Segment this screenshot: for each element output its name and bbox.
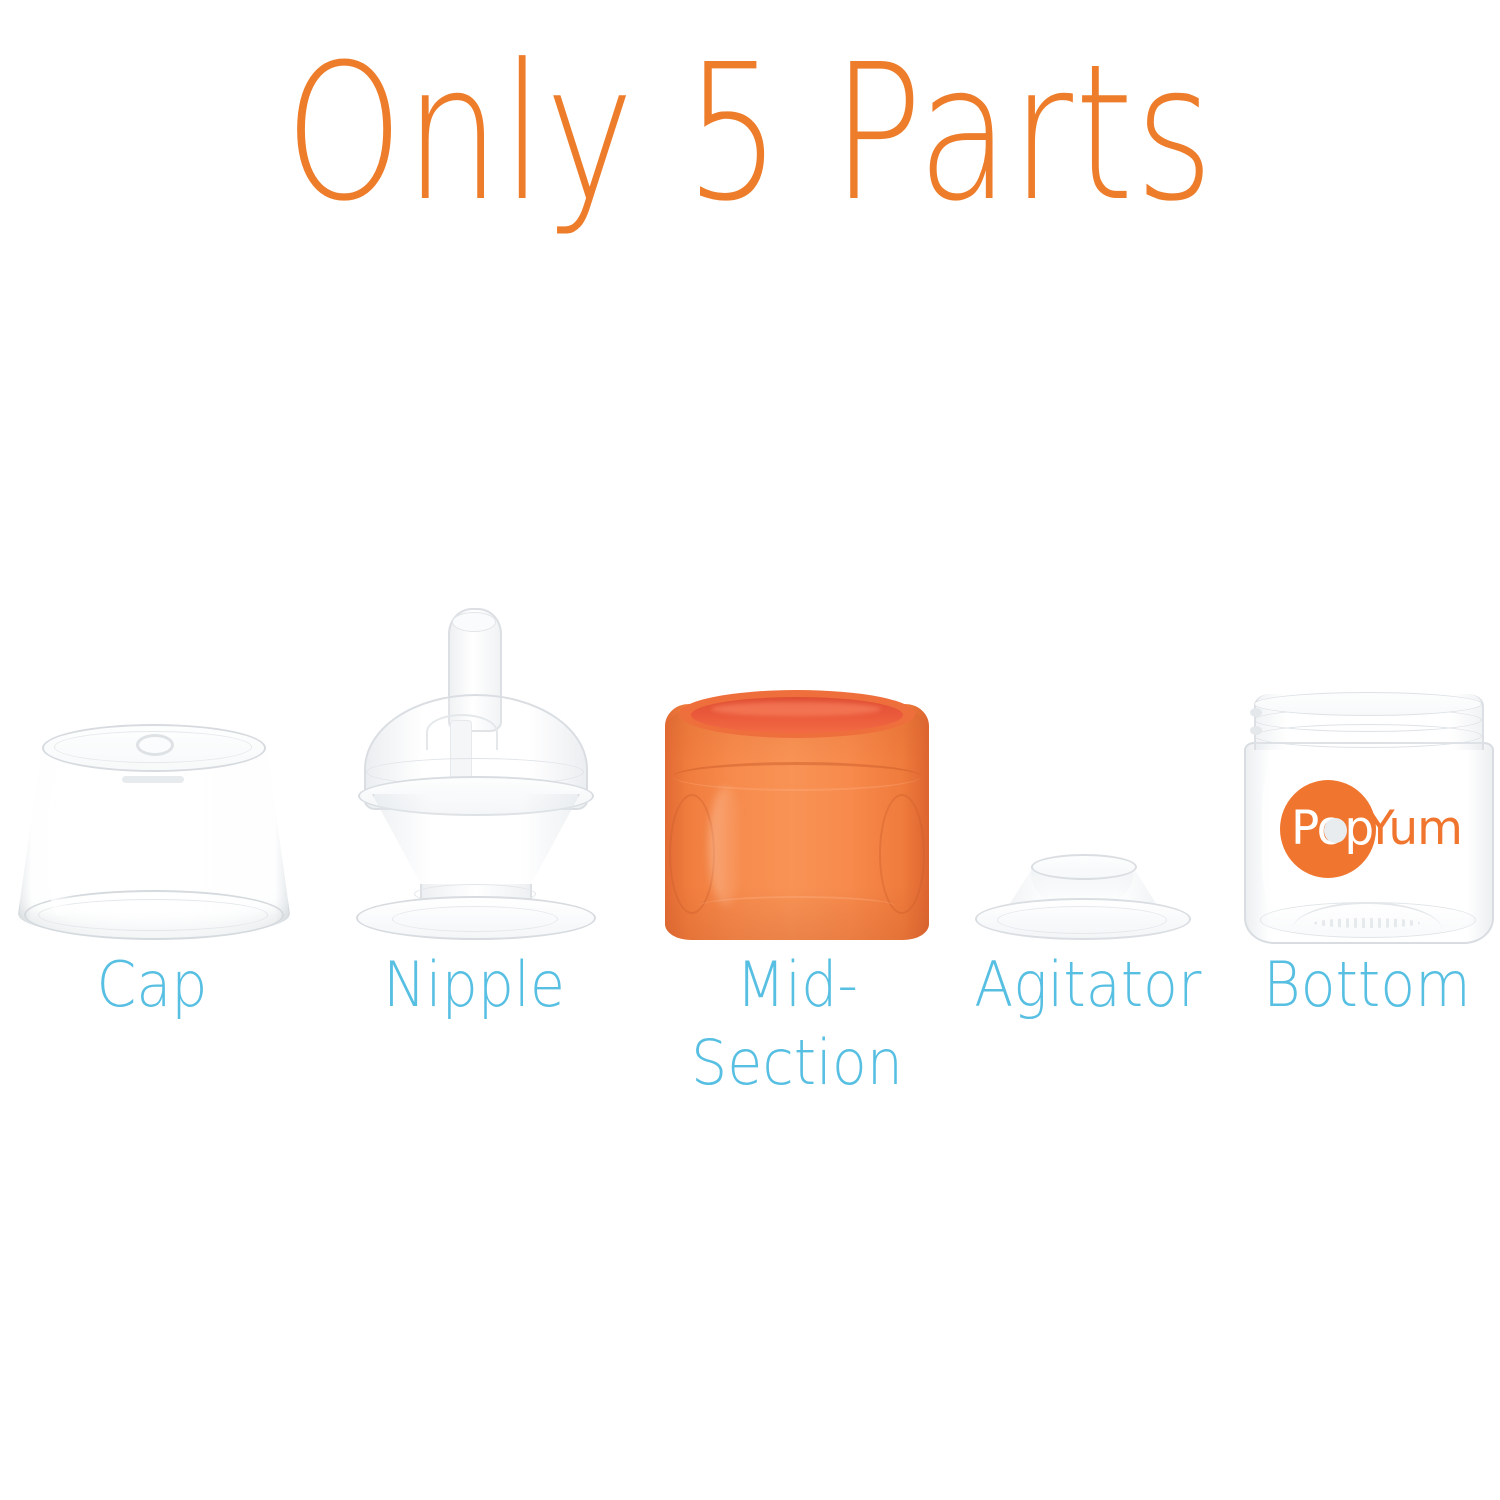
mid-section-icon (665, 690, 929, 940)
part-nipple (348, 560, 600, 940)
cap-highlight (48, 776, 74, 916)
bottom-thread-nub-2 (1250, 726, 1262, 735)
label-cap: Cap (29, 946, 276, 1024)
mid-section-interior-highlight (711, 702, 881, 716)
parts-row: Pop Yum (0, 560, 1500, 940)
page-title: Only 5 Parts (150, 34, 1350, 234)
cap-vent-hole-icon (136, 734, 174, 756)
mid-section-bottom-ridge (699, 896, 895, 916)
cap-rim-inner (38, 899, 268, 931)
agitator-icon (975, 854, 1187, 940)
bottom-embossing (1314, 918, 1420, 928)
cap-icon (18, 714, 286, 940)
agitator-top (1031, 854, 1137, 880)
logo-yum-text: Yum (1366, 802, 1462, 856)
part-agitator (975, 560, 1187, 940)
nipple-teat-tip (452, 612, 496, 632)
bottom-thread-1 (1254, 692, 1482, 716)
bottom-highlight (1262, 766, 1282, 906)
part-bottom: Pop Yum (1240, 560, 1494, 940)
agitator-flange-inner (997, 906, 1167, 934)
bottom-thread-nub-1 (1250, 708, 1262, 717)
label-nipple: Nipple (358, 946, 590, 1024)
label-bottom: Bottom (1250, 946, 1484, 1024)
label-mid-section: Mid-Section (676, 946, 919, 1102)
nipple-waist (372, 794, 580, 894)
cap-notch (122, 776, 184, 783)
nipple-icon (348, 608, 600, 940)
part-cap (18, 560, 286, 940)
mid-section-seam (673, 762, 921, 791)
label-agitator: Agitator (974, 946, 1187, 1024)
nipple-flange-inner (392, 906, 558, 932)
popyum-logo: Pop Yum (1280, 780, 1450, 878)
part-mid-section (665, 560, 929, 940)
bottom-icon: Pop Yum (1240, 692, 1494, 940)
infographic-canvas: Only 5 Parts (0, 0, 1500, 1500)
logo-o-counter (1324, 818, 1347, 843)
